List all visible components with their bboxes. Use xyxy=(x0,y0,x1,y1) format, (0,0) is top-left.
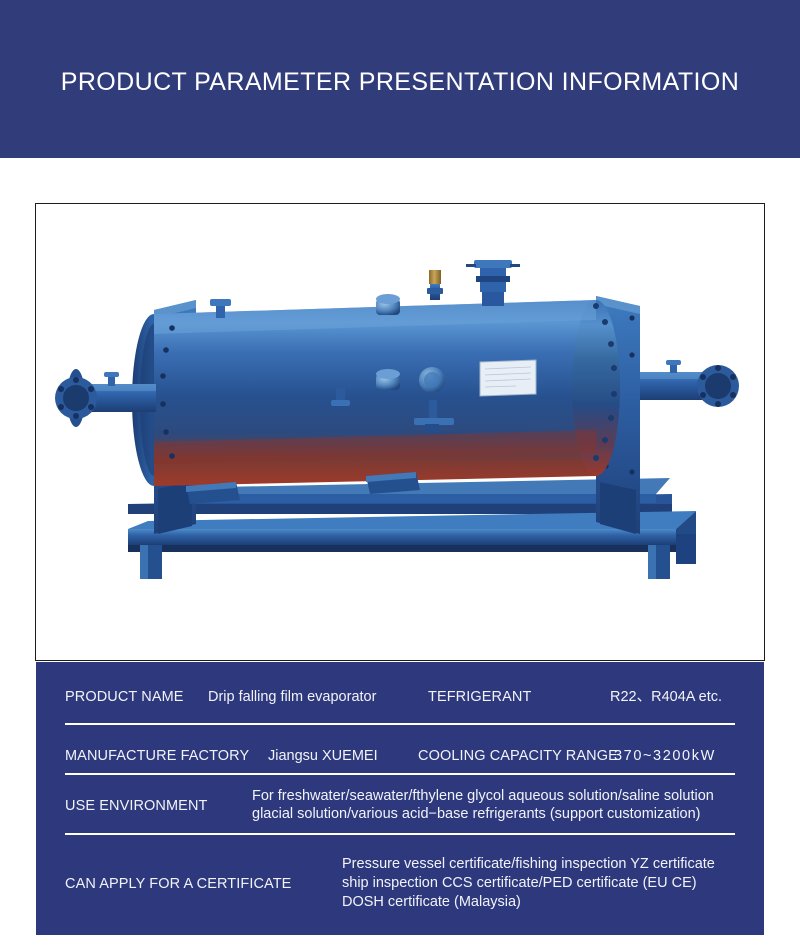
spec-label-refrigerant: TEFRIGERANT xyxy=(428,688,531,706)
top-cap-mid xyxy=(376,294,400,315)
spec-label-cooling-capacity-range: COOLING CAPACITY RANGE xyxy=(418,747,618,765)
page-title: PRODUCT PARAMETER PRESENTATION INFORMATI… xyxy=(0,68,800,97)
nameplate xyxy=(480,360,536,396)
product-photo xyxy=(36,204,764,660)
product-image-panel xyxy=(35,203,765,661)
evaporator-shell xyxy=(154,300,620,486)
table-row: PRODUCT NAME Drip falling film evaporato… xyxy=(36,662,764,723)
spec-value-refrigerant: R22、R404A etc. xyxy=(610,688,722,706)
spec-value-use-environment-line2: glacial solution/various acid−base refri… xyxy=(252,805,701,823)
spec-label-product-name: PRODUCT NAME xyxy=(65,688,184,706)
spec-value-use-environment-line1: For freshwater/seawater/fthylene glycol … xyxy=(252,787,714,805)
spec-table: PRODUCT NAME Drip falling film evaporato… xyxy=(36,662,764,935)
spec-value-manufacture-factory: Jiangsu XUEMEI xyxy=(268,747,378,765)
spec-value-product-name: Drip falling film evaporator xyxy=(208,688,376,706)
spec-label-manufacture-factory: MANUFACTURE FACTORY xyxy=(65,747,249,765)
spec-value-cooling-capacity-range: 370~3200kW xyxy=(614,747,716,765)
spec-label-certificate: CAN APPLY FOR A CERTIFICATE xyxy=(65,875,291,893)
spec-value-certificate-line2: ship inspection CCS certificate/PED cert… xyxy=(342,874,697,892)
table-row: USE ENVIRONMENT For freshwater/seawater/… xyxy=(36,773,764,833)
table-row: CAN APPLY FOR A CERTIFICATE Pressure ves… xyxy=(36,833,764,935)
lower-cap xyxy=(376,369,400,390)
table-row: MANUFACTURE FACTORY Jiangsu XUEMEI COOLI… xyxy=(36,723,764,773)
header-banner: PRODUCT PARAMETER PRESENTATION INFORMATI… xyxy=(0,0,800,158)
spec-value-certificate-line3: DOSH certificate (Malaysia) xyxy=(342,893,521,911)
spec-value-certificate-line1: Pressure vessel certificate/fishing insp… xyxy=(342,855,715,873)
side-cap-right xyxy=(419,367,445,393)
spec-label-use-environment: USE ENVIRONMENT xyxy=(65,797,208,815)
